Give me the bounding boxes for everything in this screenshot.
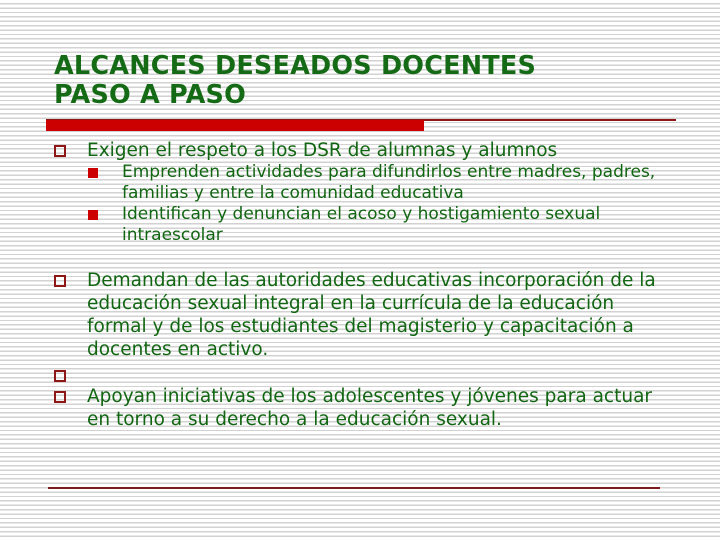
filled-square-bullet-icon: [88, 162, 122, 178]
hollow-square-bullet-icon: [54, 385, 87, 403]
list-spacer: [54, 246, 674, 269]
list-item: Demandan de las autoridades educativas i…: [54, 269, 674, 361]
list-item-label: Emprenden actividades para difundirlos e…: [122, 162, 674, 204]
list-item-label: [87, 364, 674, 385]
bullet-list: Exigen el respeto a los DSR de alumnas y…: [54, 139, 674, 431]
list-item: Exigen el respeto a los DSR de alumnas y…: [54, 139, 674, 162]
page-title-line-1: ALCANCES DESEADOS DOCENTES: [54, 52, 664, 81]
sub-bullet-list: Emprenden actividades para difundirlos e…: [54, 162, 674, 246]
list-item: Apoyan iniciativas de los adolescentes y…: [54, 385, 674, 431]
hollow-square-bullet-icon: [54, 139, 87, 157]
title-divider: [46, 119, 676, 131]
list-item: Identifican y denuncian el acoso y hosti…: [88, 204, 674, 246]
list-item-label: Identifican y denuncian el acoso y hosti…: [122, 204, 674, 246]
list-item-label: Demandan de las autoridades educativas i…: [87, 269, 674, 361]
hollow-square-bullet-icon: [54, 269, 87, 287]
hollow-square-bullet-icon: [54, 364, 87, 382]
filled-square-bullet-icon: [88, 204, 122, 220]
page-title-line-2: PASO A PASO: [54, 81, 664, 110]
title-divider-thick-bar: [46, 120, 424, 131]
slide-canvas: ALCANCES DESEADOS DOCENTES PASO A PASO E…: [0, 0, 720, 540]
list-item-label: Apoyan iniciativas de los adolescentes y…: [87, 385, 674, 431]
list-item-label: Exigen el respeto a los DSR de alumnas y…: [87, 139, 674, 162]
footer-divider: [48, 487, 660, 489]
slide-title: ALCANCES DESEADOS DOCENTES PASO A PASO: [54, 52, 664, 110]
list-item-empty: [54, 364, 674, 385]
list-item: Emprenden actividades para difundirlos e…: [88, 162, 674, 204]
